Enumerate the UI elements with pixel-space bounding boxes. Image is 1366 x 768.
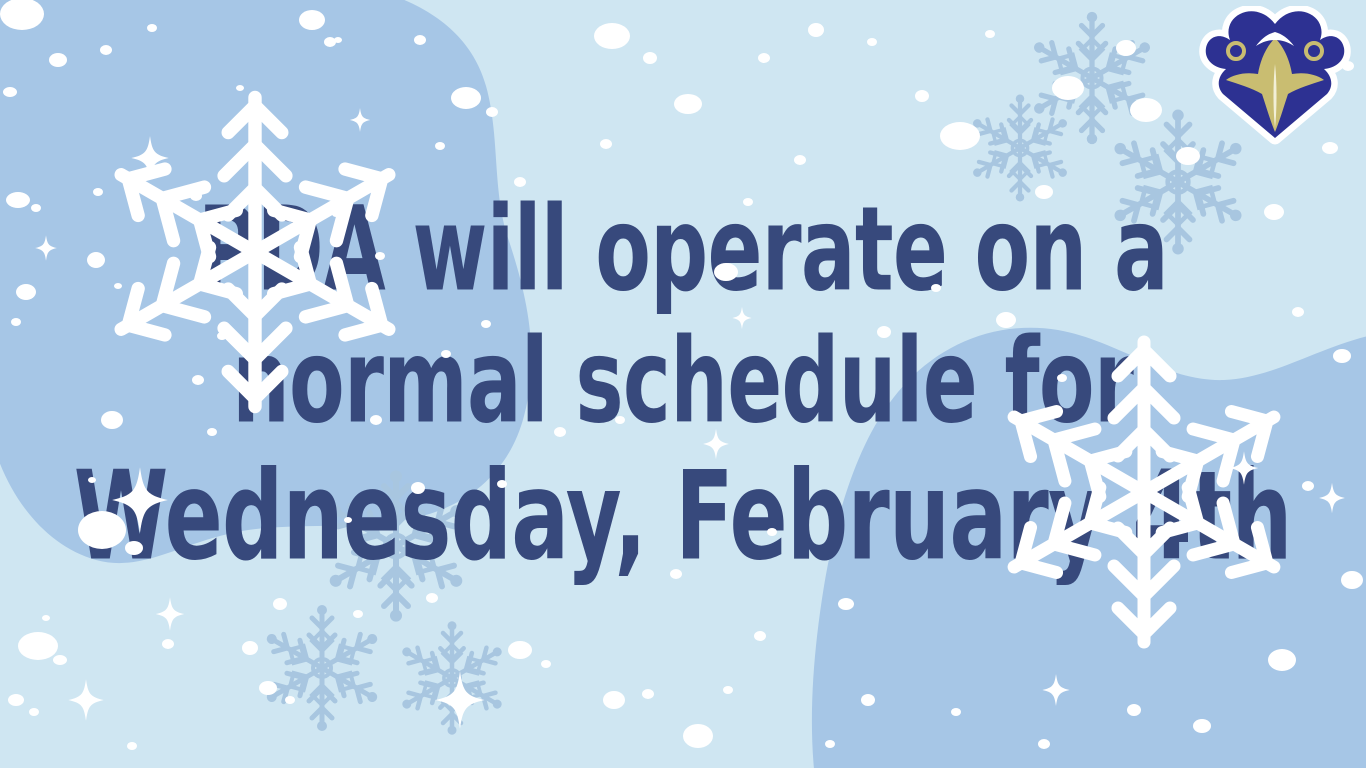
large-snowflake-icon (999, 342, 1289, 642)
snow-overlay-layer (0, 0, 1366, 768)
sparkle-star-icon (156, 597, 185, 631)
sparkle-star-icon (436, 671, 485, 729)
sparkle-star-icon (703, 429, 729, 459)
sparkle-star-icon (732, 307, 751, 329)
sparkle-star-icon (1319, 483, 1345, 513)
sparkle-star-icon (68, 679, 103, 721)
sparkle-star-icon (350, 108, 370, 132)
eagle-head-mascot-logo[interactable] (1196, 6, 1354, 146)
logo-container[interactable] (1196, 6, 1354, 146)
sparkle-star-icon (1042, 674, 1069, 706)
sparkle-star-icon (35, 235, 57, 261)
winter-announcement-poster: PDA will operate on a normal schedule fo… (0, 0, 1366, 768)
snow-speck-group (0, 0, 1363, 750)
